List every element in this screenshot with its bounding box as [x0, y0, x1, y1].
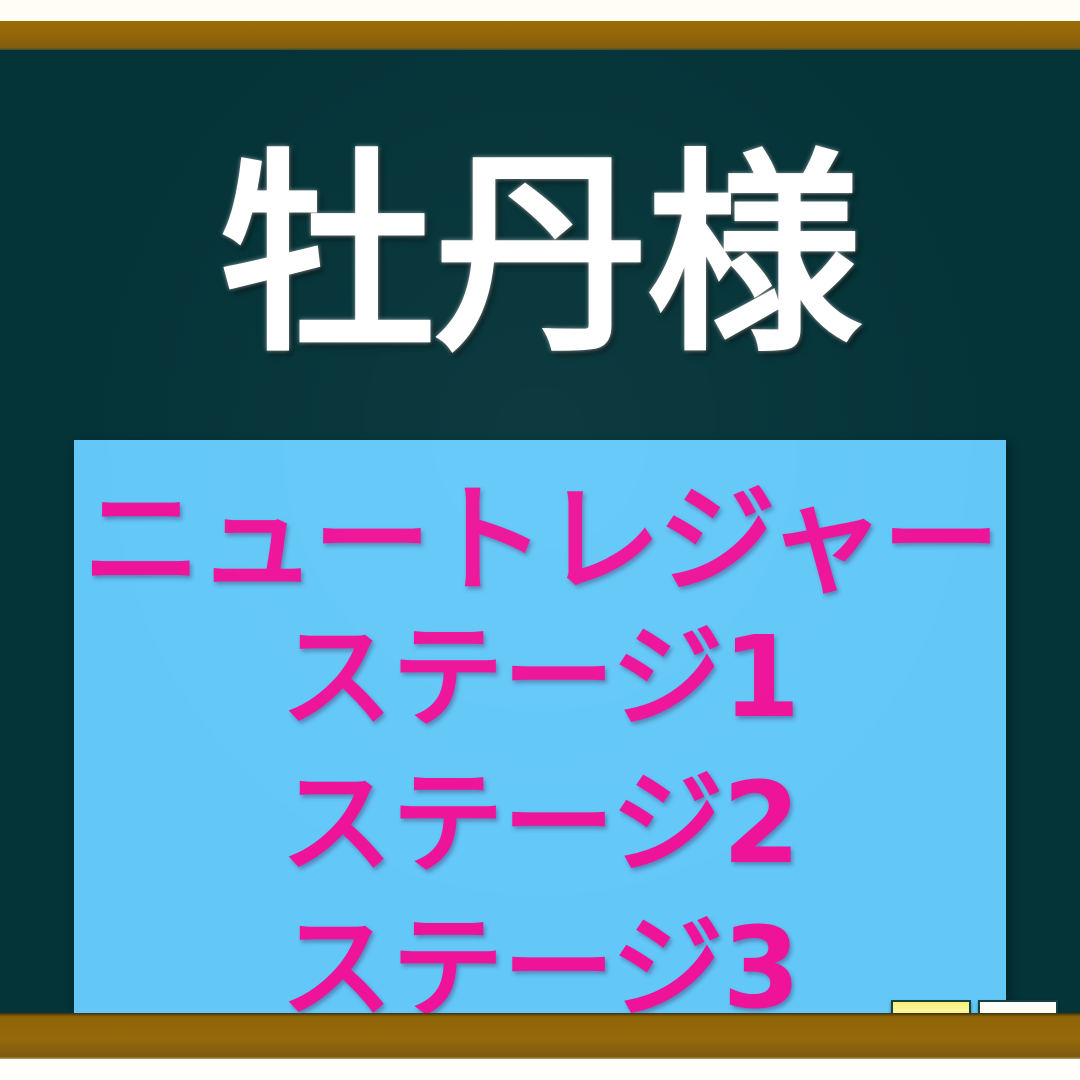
chalk-ledge — [0, 1013, 1080, 1060]
blue-sign-panel: ニュートレジャー ステージ1 ステージ2 ステージ3 — [74, 440, 1006, 1043]
poster-canvas: 牡丹様 ニュートレジャー ステージ1 ステージ2 ステージ3 — [0, 0, 1080, 1080]
board-title: 牡丹様 — [0, 146, 1080, 365]
bottom-white-margin — [0, 1059, 1080, 1080]
top-gold-frame — [0, 21, 1080, 50]
panel-stage-2: ステージ2 — [74, 752, 1006, 898]
panel-stage-1: ステージ1 — [74, 606, 1006, 752]
panel-heading: ニュートレジャー — [74, 474, 1006, 606]
top-white-margin — [0, 0, 1080, 22]
chalkboard-surface: 牡丹様 ニュートレジャー ステージ1 ステージ2 ステージ3 — [0, 50, 1080, 1013]
